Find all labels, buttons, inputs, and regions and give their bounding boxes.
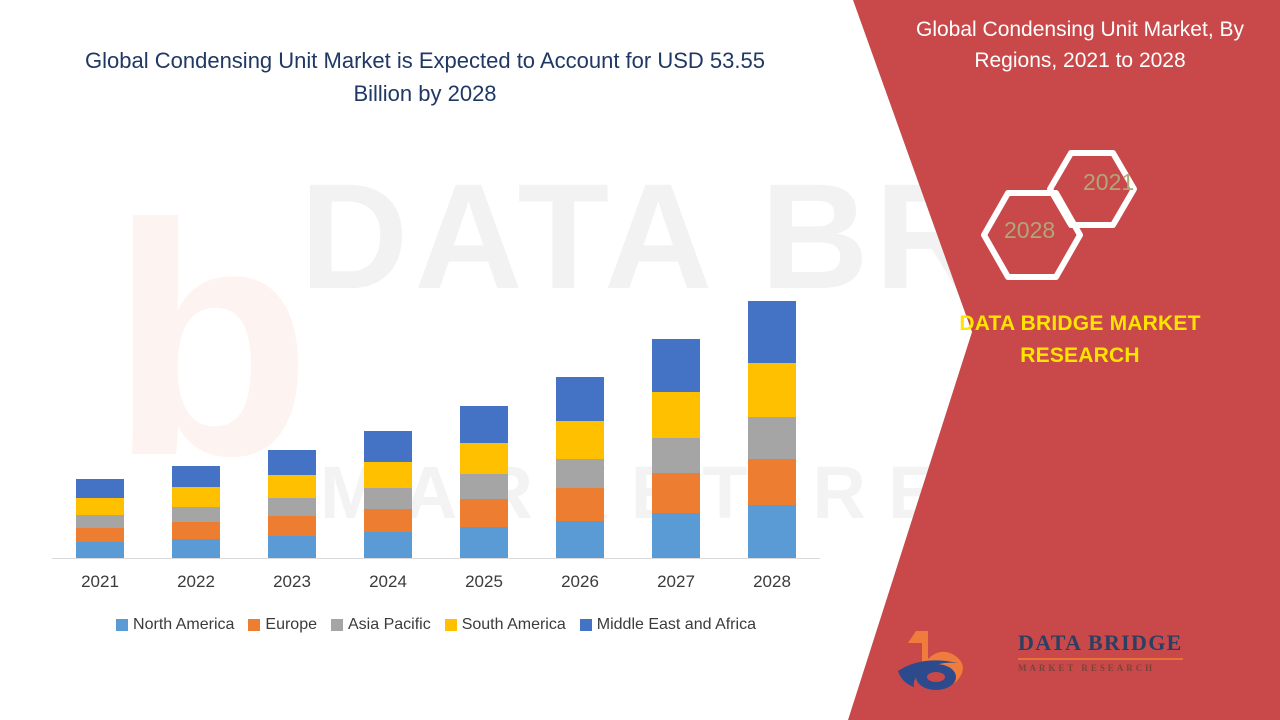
bar-stack-2027[interactable] xyxy=(652,339,700,558)
legend-swatch-icon xyxy=(580,619,592,631)
bar-segment[interactable] xyxy=(172,466,220,488)
bar-segment[interactable] xyxy=(652,392,700,438)
brand-name: DATA BRIDGE MARKET RESEARCH xyxy=(900,308,1260,372)
legend-item[interactable]: Middle East and Africa xyxy=(580,616,756,634)
hexagon-outlines xyxy=(965,145,1195,295)
bar-stack-2021[interactable] xyxy=(76,479,124,558)
bar-stack-2028[interactable] xyxy=(748,301,796,558)
bar-segment[interactable] xyxy=(460,499,508,527)
bar-stack-2024[interactable] xyxy=(364,431,412,558)
legend-label: South America xyxy=(462,616,566,634)
logo-company-name: DATA BRIDGE xyxy=(1018,630,1198,656)
legend-swatch-icon xyxy=(331,619,343,631)
panel-title: Global Condensing Unit Market, By Region… xyxy=(890,14,1270,76)
bar-segment[interactable] xyxy=(460,474,508,499)
logo-tagline: MARKET RESEARCH xyxy=(1018,663,1198,673)
hexagon-2028-label: 2028 xyxy=(1004,217,1055,244)
bar-segment[interactable] xyxy=(460,527,508,558)
bar-column xyxy=(628,160,724,558)
bar-stack-2023[interactable] xyxy=(268,450,316,558)
bar-segment[interactable] xyxy=(556,421,604,459)
company-logo: DATA BRIDGE MARKET RESEARCH xyxy=(888,625,1128,697)
bar-segment[interactable] xyxy=(748,505,796,558)
x-axis-tick-label: 2022 xyxy=(148,572,244,592)
x-axis-tick-label: 2021 xyxy=(52,572,148,592)
bar-segment[interactable] xyxy=(268,450,316,476)
slide-root: b DATA BRIDGE MARKET RESEARCH Global Con… xyxy=(0,0,1280,720)
bar-segment[interactable] xyxy=(556,521,604,558)
bar-segment[interactable] xyxy=(268,516,316,536)
bar-segment[interactable] xyxy=(172,487,220,507)
bar-segment[interactable] xyxy=(748,301,796,363)
chart-container: Global Condensing Unit Market is Expecte… xyxy=(0,0,855,720)
bar-column xyxy=(436,160,532,558)
x-axis-tick-label: 2025 xyxy=(436,572,532,592)
bar-column xyxy=(52,160,148,558)
bar-column xyxy=(532,160,628,558)
bar-segment[interactable] xyxy=(652,473,700,513)
logo-text-block: DATA BRIDGE MARKET RESEARCH xyxy=(1018,630,1198,673)
chart-title: Global Condensing Unit Market is Expecte… xyxy=(70,44,780,110)
x-axis-tick-label: 2027 xyxy=(628,572,724,592)
bar-stack-2022[interactable] xyxy=(172,466,220,558)
bar-segment[interactable] xyxy=(268,498,316,516)
bar-segment[interactable] xyxy=(652,438,700,474)
legend-item[interactable]: Europe xyxy=(248,616,317,634)
bar-segment[interactable] xyxy=(652,513,700,558)
chart-legend: North AmericaEuropeAsia PacificSouth Ame… xyxy=(52,616,820,634)
legend-label: Middle East and Africa xyxy=(597,616,756,634)
hexagon-2021-label: 2021 xyxy=(1083,169,1134,196)
bar-segment[interactable] xyxy=(76,498,124,515)
bar-segment[interactable] xyxy=(460,406,508,443)
bar-segment[interactable] xyxy=(556,488,604,521)
bar-segment[interactable] xyxy=(556,377,604,421)
bar-segment[interactable] xyxy=(172,539,220,558)
bar-segment[interactable] xyxy=(364,431,412,462)
bar-stack-2026[interactable] xyxy=(556,377,604,558)
bar-segment[interactable] xyxy=(460,443,508,475)
logo-mark-icon xyxy=(888,625,1008,697)
legend-label: Europe xyxy=(265,616,317,634)
x-axis-tick-label: 2024 xyxy=(340,572,436,592)
legend-label: Asia Pacific xyxy=(348,616,431,634)
bar-segment[interactable] xyxy=(748,459,796,506)
bar-column xyxy=(148,160,244,558)
legend-swatch-icon xyxy=(248,619,260,631)
legend-item[interactable]: North America xyxy=(116,616,234,634)
bar-segment[interactable] xyxy=(172,522,220,539)
bar-segment[interactable] xyxy=(364,488,412,509)
bar-chart-plot xyxy=(52,160,820,558)
bar-segment[interactable] xyxy=(76,528,124,542)
bar-segment[interactable] xyxy=(652,339,700,392)
bar-column xyxy=(340,160,436,558)
legend-item[interactable]: Asia Pacific xyxy=(331,616,431,634)
bar-segment[interactable] xyxy=(748,417,796,459)
legend-item[interactable]: South America xyxy=(445,616,566,634)
bar-segment[interactable] xyxy=(76,479,124,498)
bar-column xyxy=(724,160,820,558)
bar-segment[interactable] xyxy=(268,536,316,558)
x-axis-tick-label: 2028 xyxy=(724,572,820,592)
panel-content: Global Condensing Unit Market, By Region… xyxy=(880,0,1280,720)
bar-segment[interactable] xyxy=(76,515,124,528)
hexagon-group: 2021 2028 xyxy=(965,145,1195,295)
x-axis-labels: 20212022202320242025202620272028 xyxy=(52,572,820,592)
bar-segment[interactable] xyxy=(748,363,796,417)
x-axis-tick-label: 2023 xyxy=(244,572,340,592)
bar-segment[interactable] xyxy=(364,462,412,489)
x-axis-line xyxy=(52,558,820,559)
bar-segment[interactable] xyxy=(556,459,604,489)
bar-segment[interactable] xyxy=(364,532,412,558)
bar-segment[interactable] xyxy=(76,542,124,558)
bar-segment[interactable] xyxy=(268,475,316,498)
x-axis-tick-label: 2026 xyxy=(532,572,628,592)
bar-segment[interactable] xyxy=(172,507,220,522)
legend-label: North America xyxy=(133,616,234,634)
legend-swatch-icon xyxy=(116,619,128,631)
logo-divider xyxy=(1018,658,1183,660)
bar-column xyxy=(244,160,340,558)
bar-stack-2025[interactable] xyxy=(460,406,508,558)
legend-swatch-icon xyxy=(445,619,457,631)
bar-segment[interactable] xyxy=(364,509,412,532)
